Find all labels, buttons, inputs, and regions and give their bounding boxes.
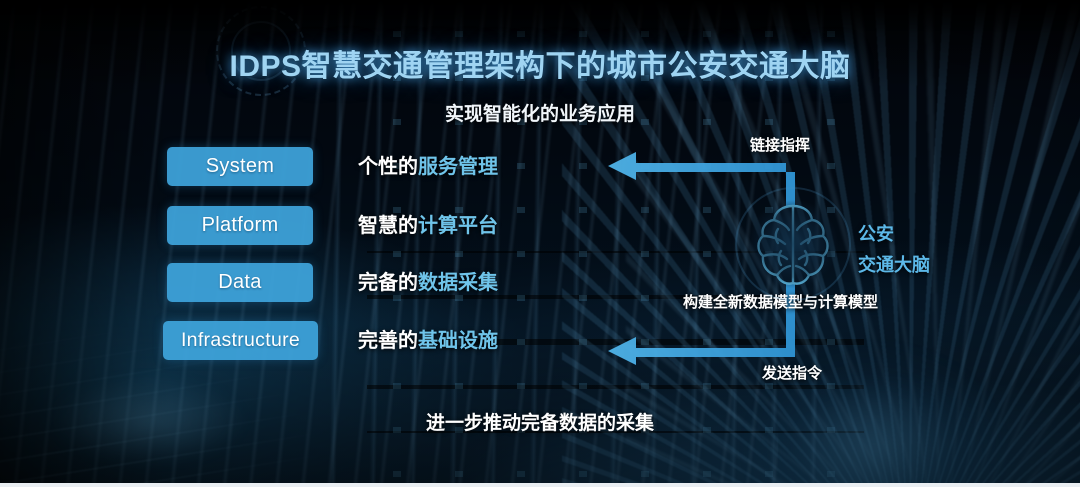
brain-backdrop [735, 187, 851, 301]
bottom-arrow-label: 发送指令 [762, 362, 822, 383]
content-layer: IDPS智慧交通管理架构下的城市公安交通大脑 实现智能化的业务应用 System… [0, 0, 1080, 487]
brain-label-line2: 交通大脑 [858, 251, 930, 277]
slide-canvas: IDPS智慧交通管理架构下的城市公安交通大脑 实现智能化的业务应用 System… [0, 0, 1080, 487]
brain-graphic [744, 196, 842, 292]
footer-note: 进一步推动完备数据的采集 [0, 408, 1080, 435]
brain-label-line1: 公安 [858, 220, 894, 246]
top-arrow-label: 链接指挥 [750, 134, 810, 155]
